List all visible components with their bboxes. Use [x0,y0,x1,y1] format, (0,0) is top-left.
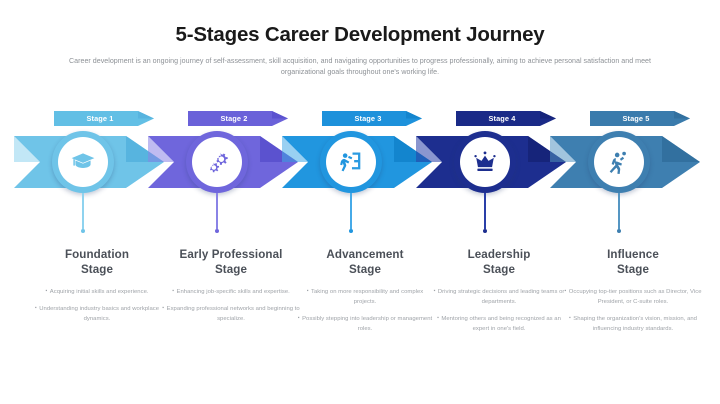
bullet-dot-icon: ▪ [172,287,174,296]
bullet-text: Possibly stepping into leadership or man… [302,316,432,332]
stage-text-5: InfluenceStage▪Occupying top-tier positi… [558,247,708,341]
stage-icon-badge[interactable] [186,131,248,193]
stage-bullet-item: ▪Shaping the organization's vision, miss… [564,314,702,334]
stage-arrow-2[interactable]: Stage 2 [148,108,298,218]
climbing-stairs-icon [326,137,376,187]
bullet-text: Understanding industry basics and workpl… [39,306,159,322]
stage-title-line2: Stage [290,262,440,277]
stage-text-2: Early ProfessionalStage▪Enhancing job-sp… [156,247,306,331]
graduation-cap-icon [58,137,108,187]
stage-bullet-list: ▪Driving strategic decisions and leading… [424,287,574,335]
stage-bullet-list: ▪Occupying top-tier positions such as Di… [558,287,708,335]
stage-text-strip: FoundationStage▪Acquiring initial skills… [0,247,720,397]
stage-bullet-item: ▪Expanding professional networks and beg… [162,304,300,324]
stage-bullet-item: ▪Understanding industry basics and workp… [28,304,166,324]
stage-title-line2: Stage [22,262,172,277]
page-title: 5-Stages Career Development Journey [0,23,720,47]
header: 5-Stages Career Development Journey Care… [0,0,720,79]
page-subtitle: Career development is an ongoing journey… [60,56,660,79]
bullet-text: Enhancing job-specific skills and expert… [177,289,290,295]
bullet-dot-icon: ▪ [35,304,37,313]
stage-connector [350,193,352,233]
runner-icon [594,137,644,187]
stage-bullet-item: ▪Mentoring others and being recognized a… [430,314,568,334]
stage-banner-label: Stage 2 [188,110,280,127]
stage-banner-label: Stage 4 [456,110,548,127]
bullet-dot-icon: ▪ [298,314,300,323]
stage-title-line2: Stage [558,262,708,277]
crown-icon [460,137,510,187]
stage-icon-badge[interactable] [588,131,650,193]
stage-title-line1: Leadership [424,247,574,262]
stage-title-line2: Stage [424,262,574,277]
stage-title: LeadershipStage [424,247,574,278]
stage-bullet-item: ▪Acquiring initial skills and experience… [28,287,166,297]
bullet-dot-icon: ▪ [437,314,439,323]
stage-bullet-item: ▪Enhancing job-specific skills and exper… [162,287,300,297]
bullet-text: Driving strategic decisions and leading … [438,289,565,305]
stage-bullet-item: ▪Possibly stepping into leadership or ma… [296,314,434,334]
stage-icon-badge[interactable] [52,131,114,193]
bullet-text: Taking on more responsibility and comple… [311,289,423,305]
bullet-dot-icon: ▪ [564,287,566,296]
stage-arrow-5[interactable]: Stage 5 [550,108,700,218]
stage-icon-badge[interactable] [320,131,382,193]
bullet-dot-icon: ▪ [434,287,436,296]
stage-title-line1: Advancement [290,247,440,262]
stage-arrow-1[interactable]: Stage 1 [14,108,164,218]
bullet-dot-icon: ▪ [162,304,164,313]
stage-title-line1: Foundation [22,247,172,262]
bullet-text: Shaping the organization's vision, missi… [573,316,697,332]
stage-title-line1: Early Professional [156,247,306,262]
stage-bullet-item: ▪Taking on more responsibility and compl… [296,287,434,307]
stage-bullet-list: ▪Enhancing job-specific skills and exper… [156,287,306,324]
stage-connector [484,193,486,233]
bullet-dot-icon: ▪ [569,314,571,323]
stage-text-3: AdvancementStage▪Taking on more responsi… [290,247,440,341]
stage-title-line1: Influence [558,247,708,262]
stage-banner-label: Stage 5 [590,110,682,127]
stage-icon-badge[interactable] [454,131,516,193]
bullet-text: Occupying top-tier positions such as Dir… [569,289,702,305]
stage-connector [82,193,84,233]
stage-title: FoundationStage [22,247,172,278]
stage-title-line2: Stage [156,262,306,277]
bullet-text: Expanding professional networks and begi… [167,306,300,322]
stage-bullet-item: ▪Occupying top-tier positions such as Di… [564,287,702,307]
stage-text-4: LeadershipStage▪Driving strategic decisi… [424,247,574,341]
stage-bullet-list: ▪Acquiring initial skills and experience… [22,287,172,324]
stage-title: InfluenceStage [558,247,708,278]
stage-bullet-item: ▪Driving strategic decisions and leading… [430,287,568,307]
stage-bullet-list: ▪Taking on more responsibility and compl… [290,287,440,335]
stage-title: Early ProfessionalStage [156,247,306,278]
stage-banner-label: Stage 3 [322,110,414,127]
stage-text-1: FoundationStage▪Acquiring initial skills… [22,247,172,331]
bullet-dot-icon: ▪ [45,287,47,296]
stage-arrow-4[interactable]: Stage 4 [416,108,566,218]
stage-connector [618,193,620,233]
stage-arrow-3[interactable]: Stage 3 [282,108,432,218]
bullet-text: Acquiring initial skills and experience. [50,289,149,295]
infographic-slide: 5-Stages Career Development Journey Care… [0,0,720,404]
stage-banner-label: Stage 1 [54,110,146,127]
bullet-text: Mentoring others and being recognized as… [441,316,561,332]
bullet-dot-icon: ▪ [307,287,309,296]
gears-icon [192,137,242,187]
stage-title: AdvancementStage [290,247,440,278]
stage-arrow-strip: Stage 1Stage 2Stage 3Stage 4Stage 5 [0,108,720,218]
stage-connector [216,193,218,233]
